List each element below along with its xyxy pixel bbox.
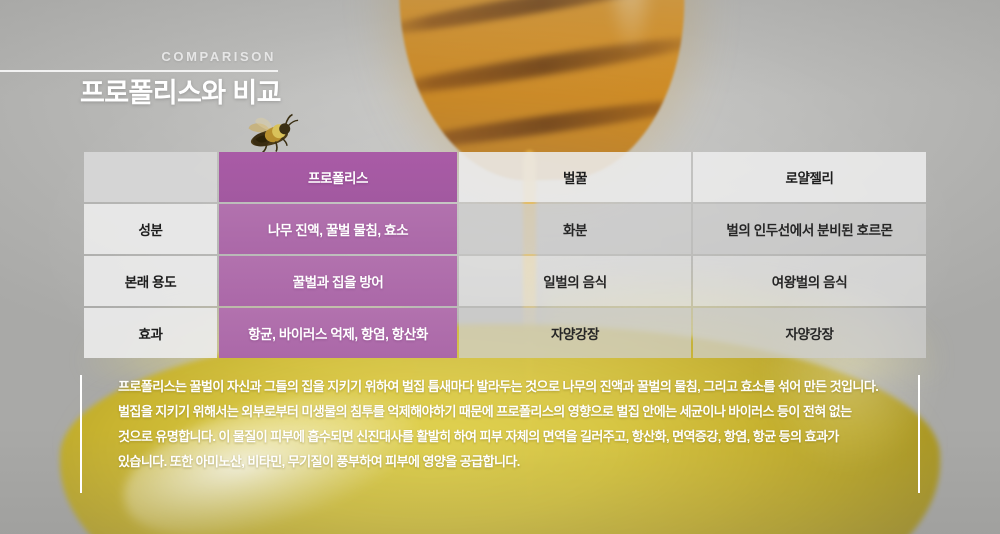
bee-icon [246,108,322,152]
cell-honey-effects: 자양강장 [459,308,691,358]
table-row: 효과 항균, 바이러스 억제, 항염, 항산화 자양강장 자양강장 [84,308,926,358]
cell-honey-ingredients: 화분 [459,204,691,254]
description-rule-right [918,375,920,493]
table-corner-cell [84,152,217,202]
cell-propolis-effects: 항균, 바이러스 억제, 항염, 항산화 [219,308,457,358]
comparison-table: 프로폴리스 벌꿀 로얄젤리 성분 나무 진액, 꿀벌 물침, 효소 화분 벌의 … [82,150,928,360]
cell-propolis-original-use: 꿀벌과 집을 방어 [219,256,457,306]
row-label-ingredients: 성분 [84,204,217,254]
cell-royal-jelly-original-use: 여왕벌의 음식 [693,256,926,306]
heading-divider [0,70,278,72]
row-label-original-use: 본래 용도 [84,256,217,306]
table-row: 본래 용도 꿀벌과 집을 방어 일벌의 음식 여왕벌의 음식 [84,256,926,306]
description-block: 프로폴리스는 꿀벌이 자신과 그들의 집을 지키기 위하여 벌집 틈새마다 발라… [80,375,920,493]
page-title: 프로폴리스와 비교 [0,78,278,109]
table-row: 성분 나무 진액, 꿀벌 물침, 효소 화분 벌의 인두선에서 분비된 호르몬 [84,204,926,254]
column-header-royal-jelly: 로얄젤리 [693,152,926,202]
cell-royal-jelly-ingredients: 벌의 인두선에서 분비된 호르몬 [693,204,926,254]
cell-honey-original-use: 일벌의 음식 [459,256,691,306]
cell-propolis-ingredients: 나무 진액, 꿀벌 물침, 효소 [219,204,457,254]
column-header-honey: 벌꿀 [459,152,691,202]
description-text: 프로폴리스는 꿀벌이 자신과 그들의 집을 지키기 위하여 벌집 틈새마다 발라… [82,375,918,493]
column-header-propolis: 프로폴리스 [219,152,457,202]
row-label-effects: 효과 [84,308,217,358]
cell-royal-jelly-effects: 자양강장 [693,308,926,358]
heading-kicker: COMPARISON [0,50,278,63]
table-header-row: 프로폴리스 벌꿀 로얄젤리 [84,152,926,202]
page-heading: COMPARISON 프로폴리스와 비교 [0,50,278,109]
